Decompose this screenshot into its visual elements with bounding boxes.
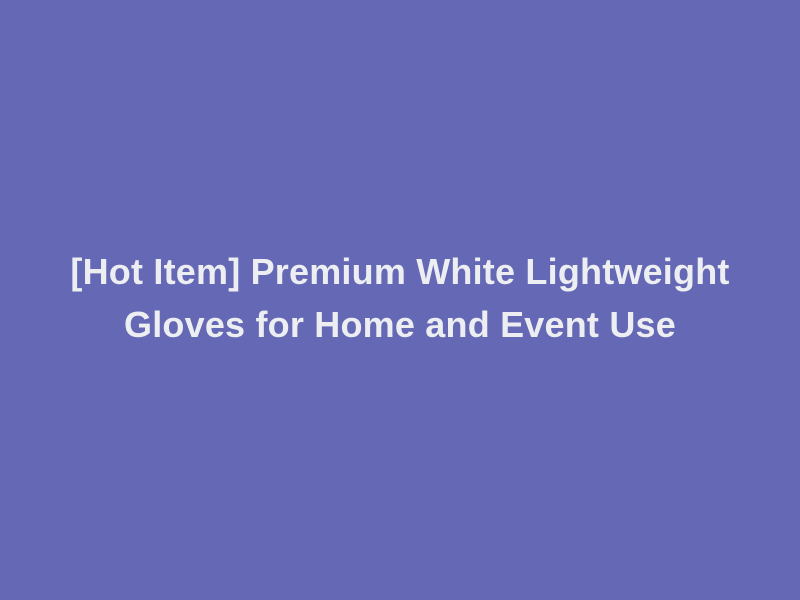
page-title: [Hot Item] Premium White Lightweight Glo… [70, 245, 730, 351]
title-block: [Hot Item] Premium White Lightweight Glo… [70, 245, 730, 351]
placeholder-card: [Hot Item] Premium White Lightweight Glo… [0, 0, 800, 600]
